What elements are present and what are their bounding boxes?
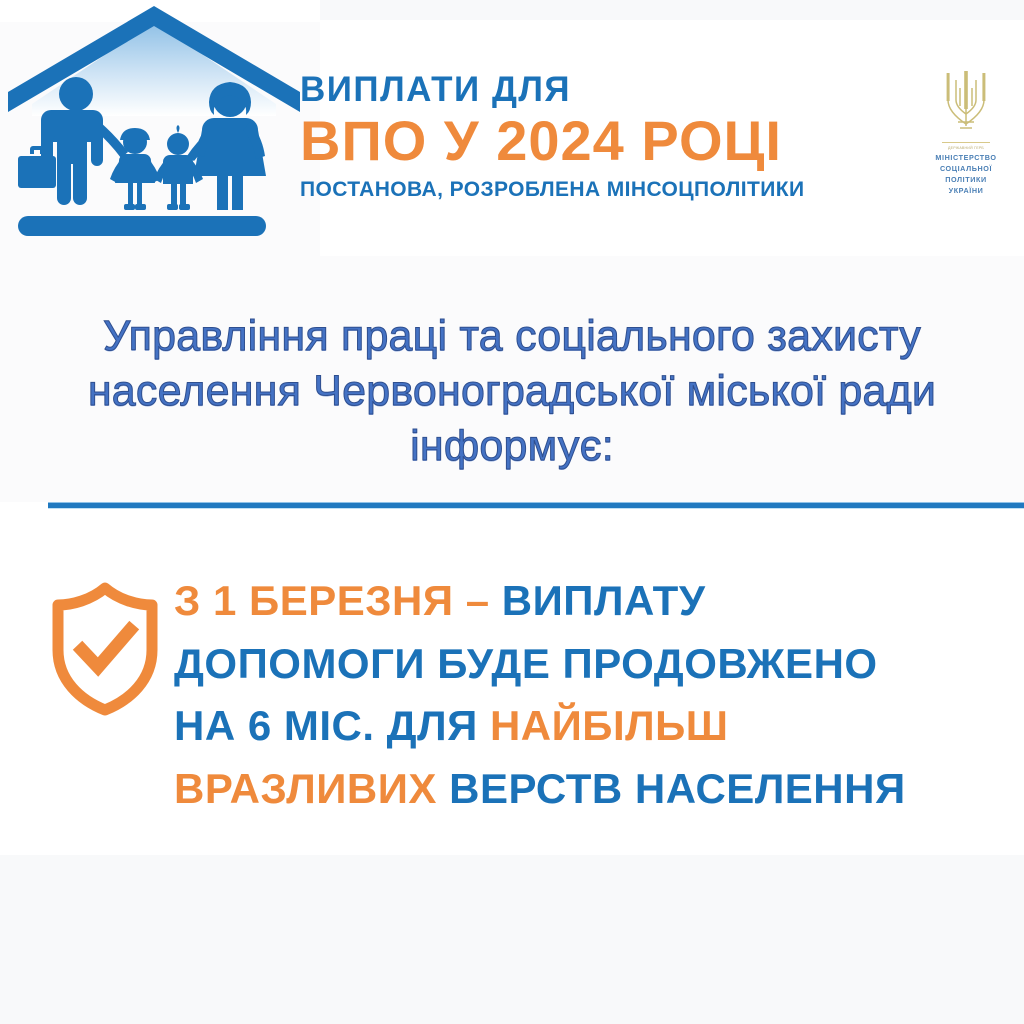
announcement-line: НА 6 МІС. ДЛЯ НАЙБІЛЬШ — [174, 695, 1024, 758]
announcement-segment: ДОПОМОГИ БУДЕ ПРОДОВЖЕНО — [174, 640, 878, 687]
page-title: Управління праці та соціального захисту … — [0, 309, 1024, 474]
emblem-name: МІНІСТЕРСТВО СОЦІАЛЬНОЇ ПОЛІТИКИ УКРАЇНИ — [918, 153, 1014, 196]
emblem-name-line-2: СОЦІАЛЬНОЇ ПОЛІТИКИ — [918, 164, 1014, 186]
announcement-text: З 1 БЕРЕЗНЯ – ВИПЛАТУДОПОМОГИ БУДЕ ПРОДО… — [174, 570, 1024, 820]
ukraine-trident-icon — [940, 66, 992, 138]
announcement-segment: ВРАЗЛИВИХ — [174, 765, 449, 812]
house-with-family-logo — [4, 4, 304, 242]
announcement-segment: НА 6 МІС. ДЛЯ — [174, 702, 490, 749]
emblem-name-line-1: МІНІСТЕРСТВО — [918, 153, 1014, 164]
shield-check-icon — [46, 580, 164, 716]
emblem-divider-rule — [942, 142, 990, 143]
banner-headline: ВИПЛАТИ ДЛЯ ВПО У 2024 РОЦІ ПОСТАНОВА, Р… — [300, 72, 900, 200]
background-lower-panel — [0, 855, 1024, 1024]
announcement-segment: З 1 БЕРЕЗНЯ – — [174, 577, 502, 624]
announcement-segment: ВИПЛАТУ — [502, 577, 706, 624]
announcement-line: ВРАЗЛИВИХ ВЕРСТВ НАСЕЛЕННЯ — [174, 758, 1024, 821]
banner: ВИПЛАТИ ДЛЯ ВПО У 2024 РОЦІ ПОСТАНОВА, Р… — [0, 0, 1024, 256]
section-divider — [48, 502, 1024, 509]
emblem-micro-text: ДЕРЖАВНИЙ ГЕРБ — [918, 146, 1014, 150]
announcement-segment: НАЙБІЛЬШ — [490, 702, 729, 749]
announcement-line: ДОПОМОГИ БУДЕ ПРОДОВЖЕНО — [174, 633, 1024, 696]
banner-line-3: ПОСТАНОВА, РОЗРОБЛЕНА МІНСОЦПОЛІТИКИ — [300, 179, 900, 200]
announcement-line: З 1 БЕРЕЗНЯ – ВИПЛАТУ — [174, 570, 1024, 633]
banner-line-1: ВИПЛАТИ ДЛЯ — [300, 72, 900, 107]
announcement-segment: ВЕРСТВ НАСЕЛЕННЯ — [449, 765, 906, 812]
banner-line-2: ВПО У 2024 РОЦІ — [300, 111, 900, 170]
ministry-emblem: ДЕРЖАВНИЙ ГЕРБ МІНІСТЕРСТВО СОЦІАЛЬНОЇ П… — [918, 66, 1014, 202]
emblem-name-line-3: УКРАЇНИ — [918, 186, 1014, 197]
announcement-block: З 1 БЕРЕЗНЯ – ВИПЛАТУДОПОМОГИ БУДЕ ПРОДО… — [0, 570, 1024, 840]
